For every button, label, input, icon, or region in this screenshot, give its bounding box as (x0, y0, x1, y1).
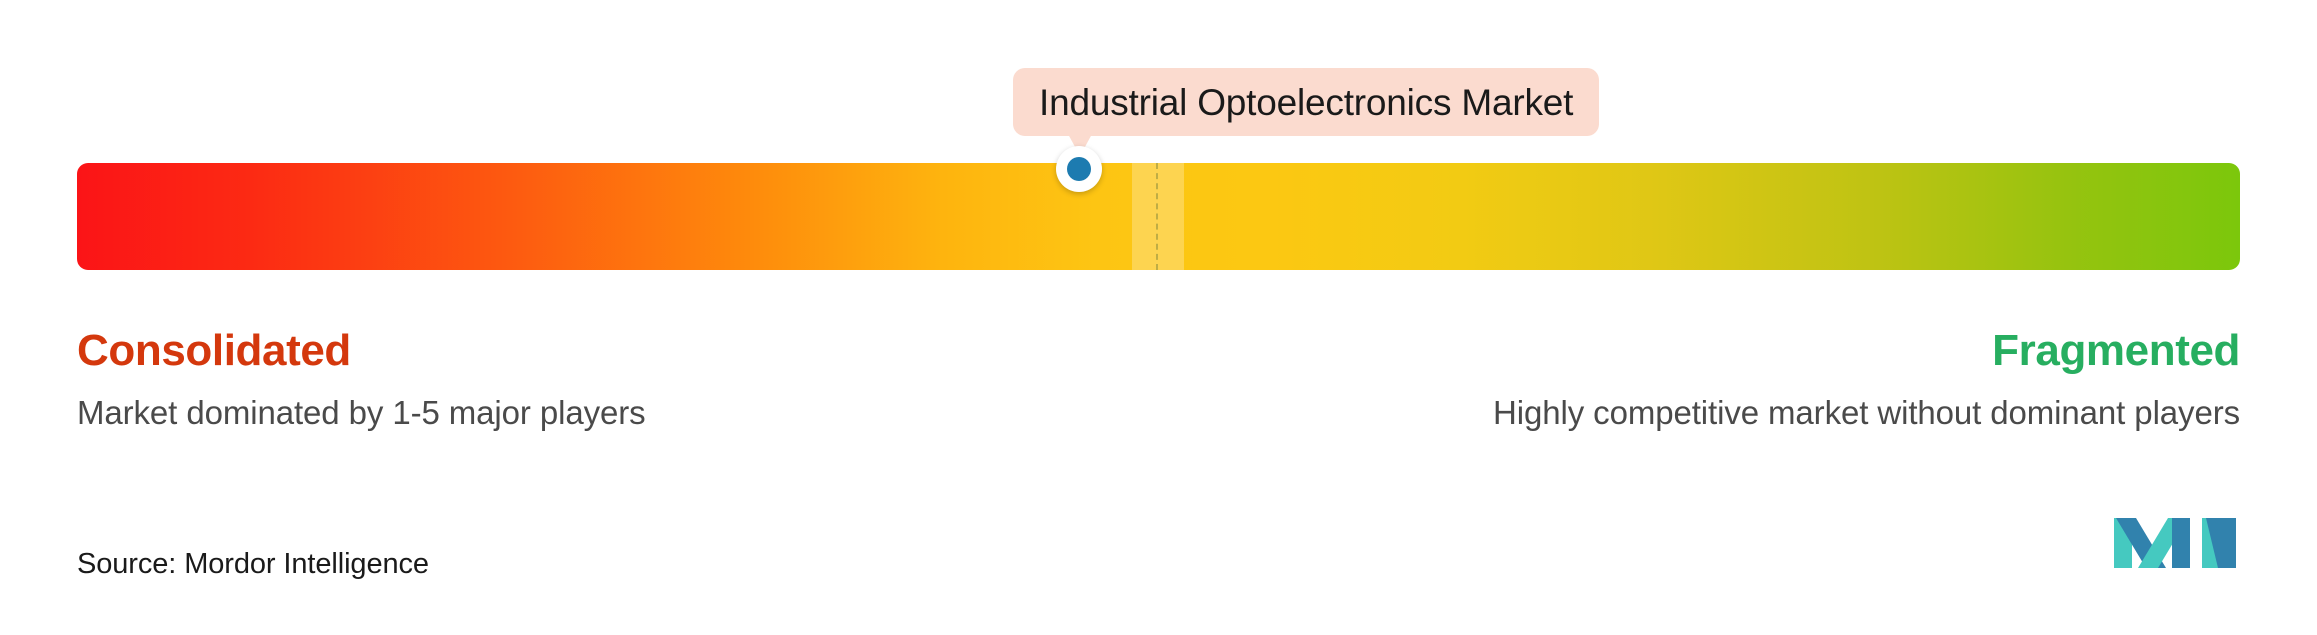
source-attribution: Source: Mordor Intelligence (77, 548, 429, 581)
concentration-scale-bar (77, 163, 2240, 270)
fragmented-description: Highly competitive market without domina… (1493, 393, 2240, 433)
marker-dot-icon (1067, 157, 1091, 181)
consolidated-title: Consolidated (77, 326, 351, 375)
market-position-marker[interactable] (1056, 146, 1102, 192)
consolidated-group: Consolidated Market dominated by 1-5 maj… (77, 326, 646, 433)
marker-dashed-line (1156, 163, 1158, 270)
market-callout-label: Industrial Optoelectronics Market (1039, 84, 1573, 121)
market-callout-tooltip: Industrial Optoelectronics Market (1013, 68, 1599, 136)
gradient-track (77, 163, 2240, 270)
mordor-intelligence-logo (2110, 512, 2240, 574)
scale-end-labels: Consolidated Market dominated by 1-5 maj… (77, 326, 2240, 433)
fragmented-title: Fragmented (1992, 326, 2240, 375)
market-concentration-infographic: Industrial Optoelectronics Market Consol… (0, 0, 2317, 635)
fragmented-group: Fragmented Highly competitive market wit… (1493, 326, 2240, 433)
consolidated-description: Market dominated by 1-5 major players (77, 393, 646, 433)
